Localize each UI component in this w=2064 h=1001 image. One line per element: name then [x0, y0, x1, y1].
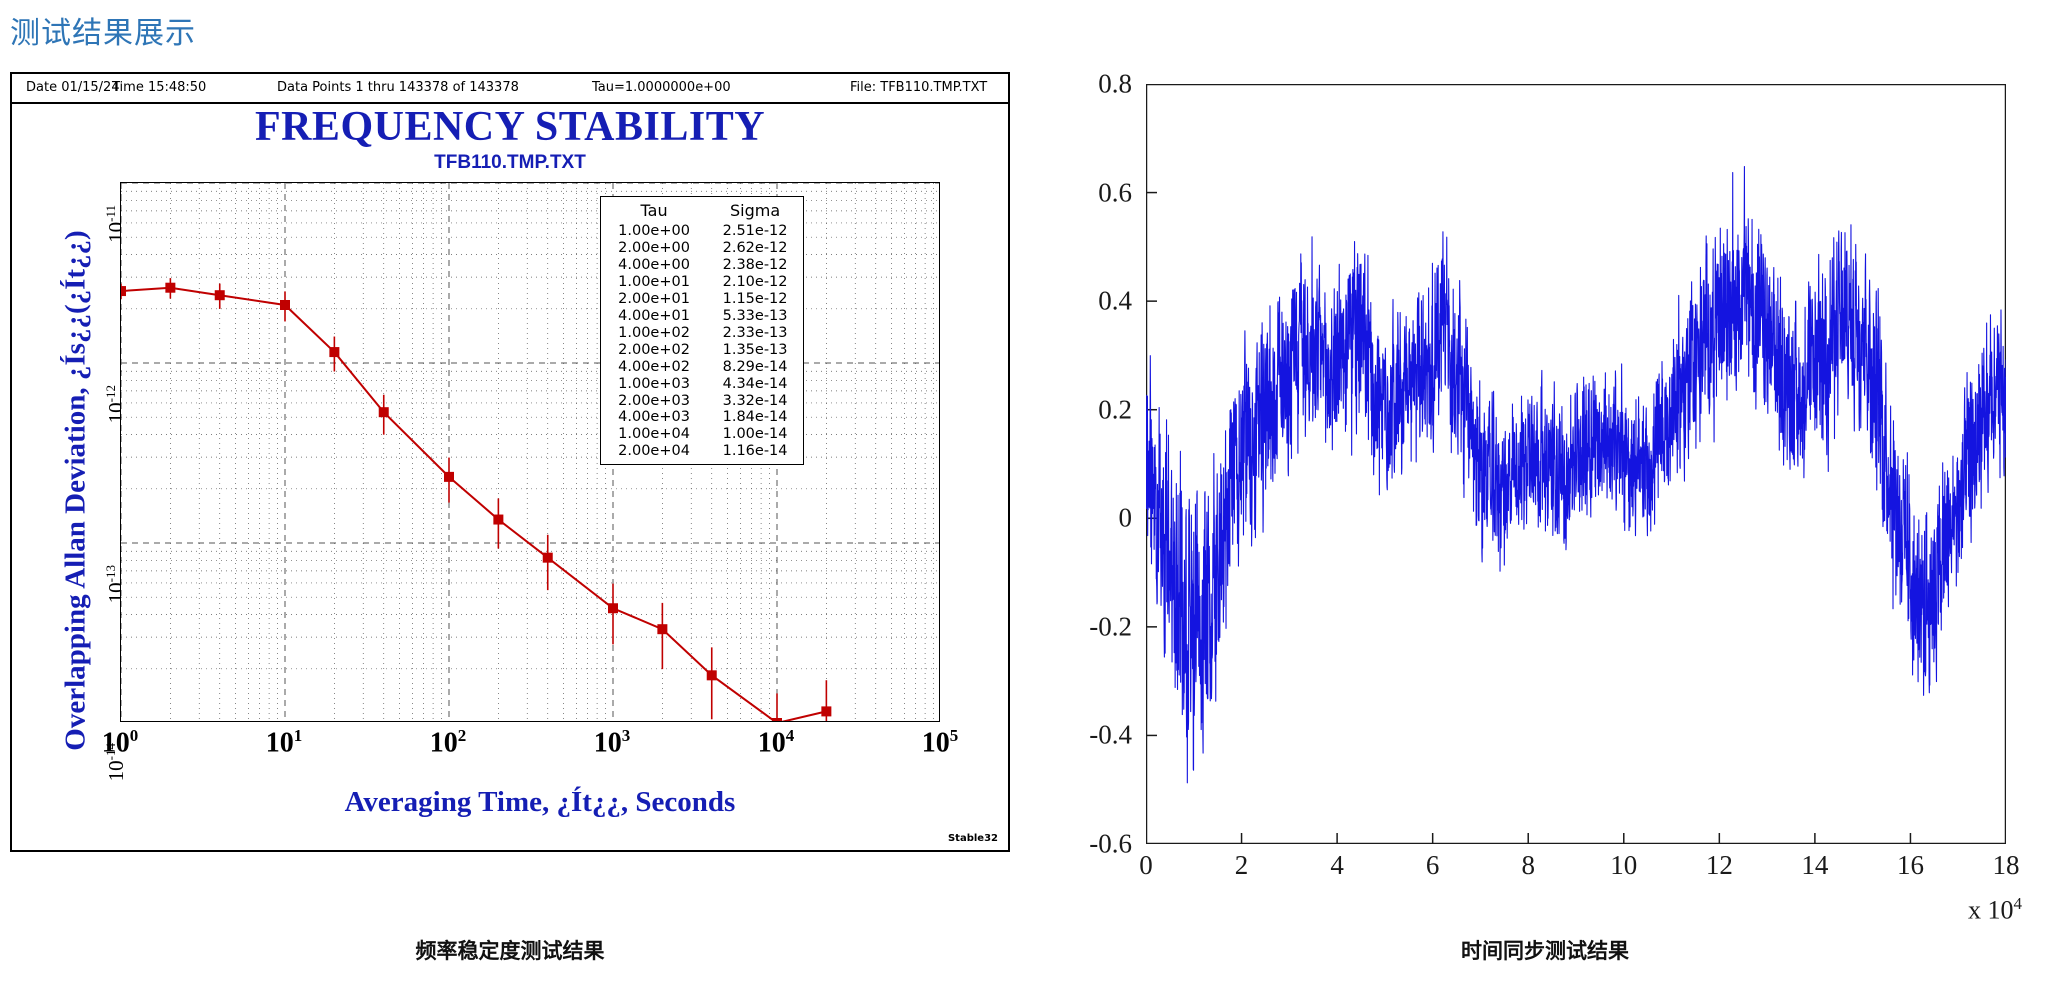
- cell-tau: 4.00e+01: [601, 308, 707, 325]
- table-row: 1.00e+034.34e-14: [601, 376, 803, 393]
- time-sync-svg: [1146, 84, 2006, 844]
- table-row: 2.00e+033.32e-14: [601, 393, 803, 410]
- cell-tau: 2.00e+01: [601, 291, 707, 308]
- stable32-plot-card: Date 01/15/24 Time 15:48:50 Data Points …: [10, 72, 1010, 852]
- cell-sigma: 1.00e-14: [707, 426, 803, 443]
- col-header-sigma: Sigma: [707, 200, 803, 223]
- table-row: 4.00e+015.33e-13: [601, 308, 803, 325]
- cell-sigma: 2.10e-12: [707, 274, 803, 291]
- table-row: 2.00e+002.62e-12: [601, 240, 803, 257]
- cell-sigma: 5.33e-13: [707, 308, 803, 325]
- table-row: 1.00e+012.10e-12: [601, 274, 803, 291]
- table-row: 2.00e+011.15e-12: [601, 291, 803, 308]
- x-axis-tick-labels: 100 101 102 103 104 105: [120, 726, 940, 768]
- x-tick-0: 0: [1139, 850, 1153, 881]
- table-row: 1.00e+022.33e-13: [601, 325, 803, 342]
- cell-sigma: 2.38e-12: [707, 257, 803, 274]
- cell-tau: 2.00e+04: [601, 443, 707, 460]
- cell-tau: 1.00e+00: [601, 223, 707, 240]
- stable32-header-bar: Date 01/15/24 Time 15:48:50 Data Points …: [12, 74, 1008, 104]
- right-x-axis-tick-labels: 024681012141618: [1146, 850, 2006, 890]
- allan-deviation-plot-area: [120, 182, 940, 722]
- table-row: 2.00e+041.16e-14: [601, 443, 803, 460]
- x-tick-1e5: 105: [922, 726, 959, 759]
- cell-sigma: 8.29e-14: [707, 359, 803, 376]
- y-tick-0.6: 0.6: [1098, 177, 1132, 208]
- cell-tau: 1.00e+01: [601, 274, 707, 291]
- table-row: 1.00e+002.51e-12: [601, 223, 803, 240]
- y-tick-0.8: 0.8: [1098, 69, 1132, 100]
- x-tick-8: 8: [1521, 850, 1535, 881]
- caption-time-sync: 时间同步测试结果: [1461, 935, 1629, 965]
- table-row: 4.00e+028.29e-14: [601, 359, 803, 376]
- table-row: 4.00e+031.84e-14: [601, 409, 803, 426]
- table-row: 4.00e+002.38e-12: [601, 257, 803, 274]
- table-header-row: Tau Sigma: [601, 200, 803, 223]
- y-axis-tick-labels: 10-11 10-12 10-13 10-14: [52, 182, 116, 722]
- header-time: Time 15:48:50: [112, 80, 206, 95]
- table-body: 1.00e+002.51e-122.00e+002.62e-124.00e+00…: [601, 223, 803, 460]
- cell-sigma: 1.35e-13: [707, 342, 803, 359]
- x-tick-1e4: 104: [758, 726, 795, 759]
- cell-sigma: 2.33e-13: [707, 325, 803, 342]
- cell-sigma: 2.62e-12: [707, 240, 803, 257]
- header-file: File: TFB110.TMP.TXT: [850, 80, 987, 95]
- chart-title: FREQUENCY STABILITY: [12, 106, 1008, 148]
- cell-tau: 1.00e+04: [601, 426, 707, 443]
- cell-tau: 2.00e+02: [601, 342, 707, 359]
- cell-sigma: 1.16e-14: [707, 443, 803, 460]
- x-tick-16: 16: [1897, 850, 1924, 881]
- cell-tau: 4.00e+03: [601, 409, 707, 426]
- col-header-tau: Tau: [601, 200, 707, 223]
- cell-tau: 2.00e+00: [601, 240, 707, 257]
- time-sync-plot-area: [1146, 84, 2006, 844]
- y-tick-0: 0: [1119, 503, 1133, 534]
- allan-deviation-svg: [121, 183, 940, 722]
- y-tick-0.2: 0.2: [1098, 394, 1132, 425]
- cell-sigma: 4.34e-14: [707, 376, 803, 393]
- cell-sigma: 2.51e-12: [707, 223, 803, 240]
- cell-sigma: 1.84e-14: [707, 409, 803, 426]
- cell-tau: 4.00e+00: [601, 257, 707, 274]
- y-tick--0.4: -0.4: [1089, 720, 1132, 751]
- header-date: Date 01/15/24: [26, 80, 120, 95]
- x-tick-1e1: 101: [266, 726, 303, 759]
- x-tick-6: 6: [1426, 850, 1440, 881]
- x-tick-12: 12: [1706, 850, 1733, 881]
- time-sync-chart-panel: 0.80.60.40.20-0.2-0.4-0.6 02468101214161…: [1070, 68, 2030, 868]
- x-tick-18: 18: [1993, 850, 2020, 881]
- right-y-axis-tick-labels: 0.80.60.40.20-0.2-0.4-0.6: [1070, 84, 1140, 844]
- tau-sigma-table: Tau Sigma 1.00e+002.51e-122.00e+002.62e-…: [600, 196, 804, 465]
- x-tick-1e3: 103: [594, 726, 631, 759]
- cell-tau: 1.00e+03: [601, 376, 707, 393]
- y-tick-0.4: 0.4: [1098, 286, 1132, 317]
- x-axis-multiplier: x 104: [1968, 894, 2022, 926]
- header-data-points: Data Points 1 thru 143378 of 143378: [277, 80, 519, 95]
- cell-sigma: 3.32e-14: [707, 393, 803, 410]
- frequency-stability-chart-panel: Date 01/15/24 Time 15:48:50 Data Points …: [10, 72, 1010, 852]
- x-tick-4: 4: [1330, 850, 1344, 881]
- table-row: 1.00e+041.00e-14: [601, 426, 803, 443]
- y-tick--0.6: -0.6: [1089, 829, 1132, 860]
- x-axis-label: Averaging Time, ¿Ít¿¿, Seconds: [132, 786, 948, 819]
- x-tick-2: 2: [1235, 850, 1249, 881]
- caption-frequency-stability: 频率稳定度测试结果: [416, 935, 605, 965]
- x-tick-1e0: 100: [102, 726, 139, 759]
- cell-tau: 1.00e+02: [601, 325, 707, 342]
- table-row: 2.00e+021.35e-13: [601, 342, 803, 359]
- x-tick-1e2: 102: [430, 726, 467, 759]
- cell-tau: 4.00e+02: [601, 359, 707, 376]
- y-tick--0.2: -0.2: [1089, 611, 1132, 642]
- chart-subtitle: TFB110.TMP.TXT: [12, 152, 1008, 174]
- stable32-watermark: Stable32: [948, 833, 998, 844]
- cell-sigma: 1.15e-12: [707, 291, 803, 308]
- cell-tau: 2.00e+03: [601, 393, 707, 410]
- page-title: 测试结果展示: [10, 8, 196, 52]
- x-tick-14: 14: [1801, 850, 1828, 881]
- x-tick-10: 10: [1610, 850, 1637, 881]
- header-tau: Tau=1.0000000e+00: [592, 80, 731, 95]
